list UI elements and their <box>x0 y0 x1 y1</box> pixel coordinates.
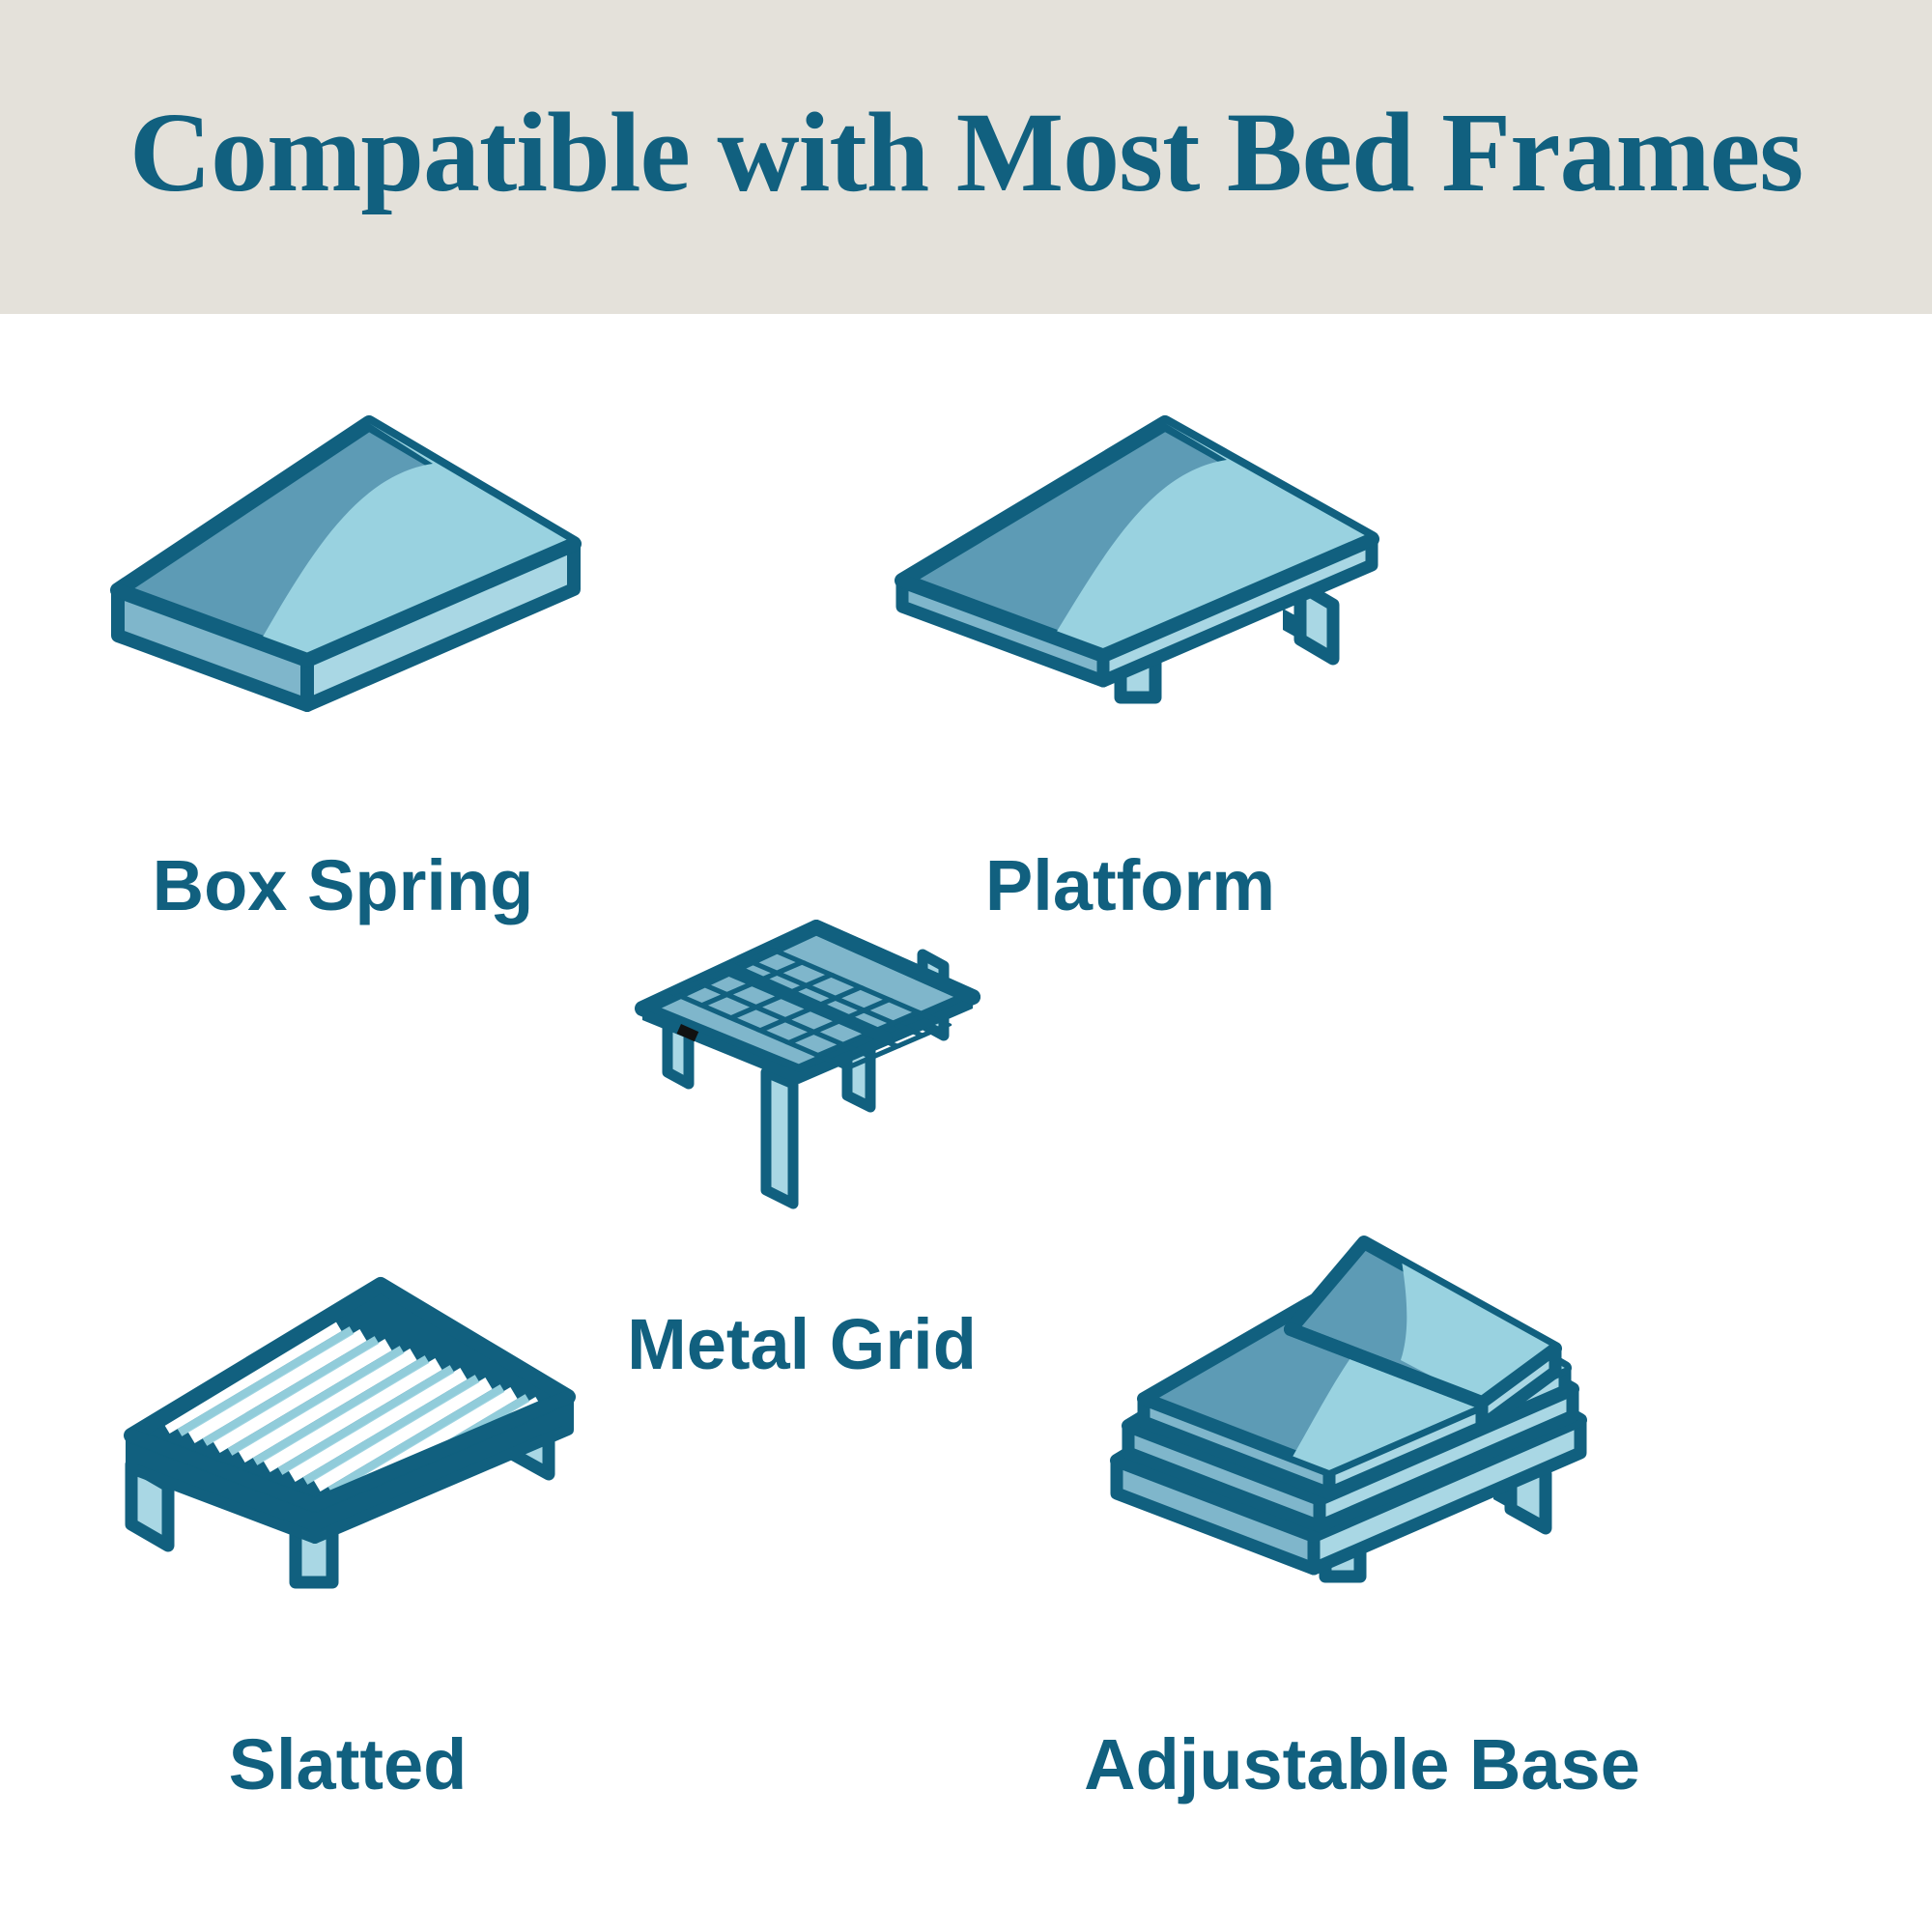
metal-grid-leg-front <box>766 1072 793 1204</box>
page-title: Compatible with Most Bed Frames <box>0 91 1932 213</box>
metal-grid-illustration <box>633 831 980 1236</box>
caption-slatted: Slatted <box>126 1729 570 1801</box>
caption-metal-grid: Metal Grid <box>599 1309 1005 1380</box>
slatted-illustration <box>124 1275 578 1594</box>
caption-adjustable-base: Adjustable Base <box>1043 1729 1681 1801</box>
slatted-base-isometric-icon <box>124 1275 578 1594</box>
box-spring-isometric-icon <box>114 415 578 705</box>
adjustable-base-isometric-icon <box>1111 1236 1594 1594</box>
platform-illustration <box>896 415 1379 705</box>
box-spring-illustration <box>114 415 578 705</box>
adjustable-base-illustration <box>1111 1236 1594 1594</box>
platform-isometric-icon <box>896 415 1379 705</box>
infographic-page: Compatible with Most Bed Frames Box Spri… <box>0 0 1932 1932</box>
metal-grid-isometric-icon <box>633 831 980 1236</box>
caption-box-spring: Box Spring <box>111 850 575 922</box>
